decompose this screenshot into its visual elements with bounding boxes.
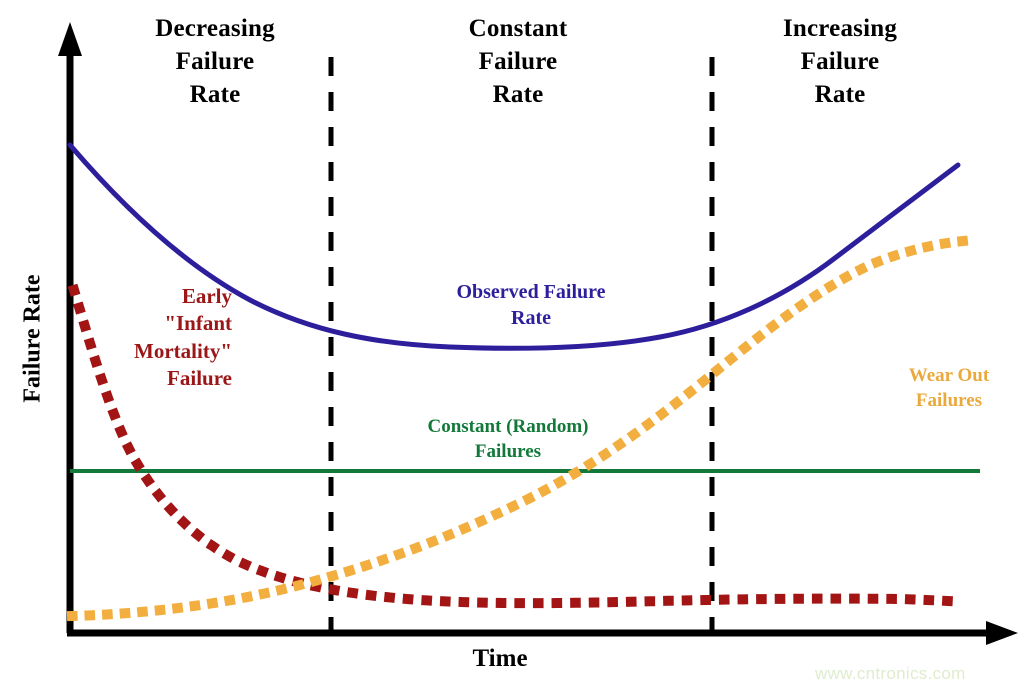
x-axis	[67, 621, 1018, 645]
watermark: www.cntronics.com	[815, 664, 1015, 684]
phase-header-line: Rate	[125, 78, 305, 111]
infant-mortality-label-line: "Infant	[84, 310, 232, 337]
observed-failure-rate-label: Observed Failure Rate	[425, 279, 637, 331]
phase-header-decreasing: Decreasing Failure Rate	[125, 12, 305, 111]
phase-header-line: Rate	[428, 78, 608, 111]
phase-header-line: Increasing	[750, 12, 930, 45]
y-axis-title: Failure Rate	[20, 259, 47, 419]
bathtub-curve-figure: Decreasing Failure Rate Constant Failure…	[0, 0, 1024, 695]
wear-out-failures-label: Wear Out Failures	[886, 364, 1012, 413]
observed-failure-rate-label-line: Rate	[425, 305, 637, 331]
infant-mortality-label-line: Mortality"	[84, 338, 232, 365]
x-axis-title: Time	[400, 645, 600, 673]
phase-header-constant: Constant Failure Rate	[428, 12, 608, 111]
phase-header-increasing: Increasing Failure Rate	[750, 12, 930, 111]
phase-header-line: Failure	[125, 45, 305, 78]
observed-failure-rate-label-line: Observed Failure	[425, 279, 637, 305]
phase-header-line: Rate	[750, 78, 930, 111]
phase-header-line: Failure	[428, 45, 608, 78]
constant-random-failures-label-line: Failures	[392, 440, 624, 465]
y-axis	[58, 22, 82, 633]
infant-mortality-label-line: Failure	[84, 365, 232, 392]
phase-header-line: Failure	[750, 45, 930, 78]
infant-mortality-label: Early "Infant Mortality" Failure	[84, 283, 232, 392]
phase-header-line: Decreasing	[125, 12, 305, 45]
phase-header-line: Constant	[428, 12, 608, 45]
infant-mortality-label-line: Early	[84, 283, 232, 310]
constant-random-failures-label: Constant (Random) Failures	[392, 415, 624, 464]
wear-out-failures-label-line: Failures	[886, 389, 1012, 414]
constant-random-failures-label-line: Constant (Random)	[392, 415, 624, 440]
wear-out-failures-label-line: Wear Out	[886, 364, 1012, 389]
